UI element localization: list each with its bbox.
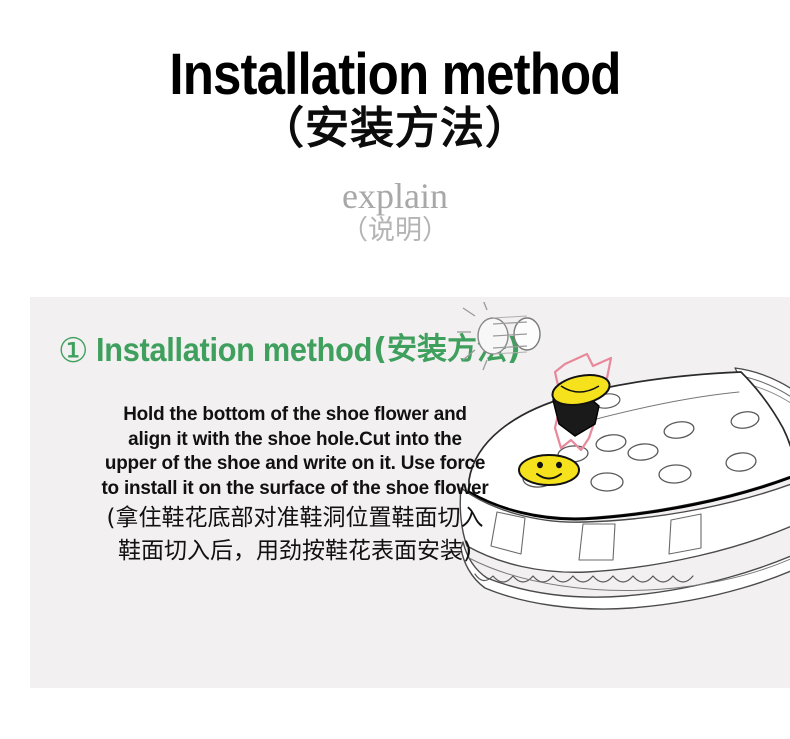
- page-title-en: Installation method: [47, 44, 742, 106]
- page-header: Installation method （安装方法） explain （说明）: [0, 0, 790, 247]
- page-title-cn: （安装方法）: [0, 104, 790, 154]
- step-heading-en: Installation method: [96, 332, 372, 368]
- page-subtitle-cn: （说明）: [0, 215, 790, 247]
- shoe-midsole-vent: [669, 514, 701, 554]
- step-body-en-line-4: to install it on the surface of the shoe…: [38, 476, 552, 501]
- step-body-cn-line-2: 鞋面切入后，用劲按鞋花表面安装): [30, 536, 560, 566]
- page-root: Installation method （安装方法） explain （说明） …: [0, 0, 790, 739]
- shoe-hole: [591, 473, 623, 491]
- step-body-en-line-3: upper of the shoe and write on it. Use f…: [38, 451, 552, 476]
- shoe-tread-scallops: [475, 574, 693, 582]
- press-tool-icon: [457, 302, 540, 370]
- step-panel: ① Installation method (安装方法) Hold the bo…: [30, 297, 790, 688]
- step-body-en-line-1: Hold the bottom of the shoe flower and: [38, 402, 552, 427]
- page-subtitle-en: explain: [0, 176, 790, 216]
- step-body-en-line-2: align it with the shoe hole.Cut into the: [38, 427, 552, 452]
- step-number-icon: ①: [58, 334, 88, 368]
- shoe-midsole-vent: [579, 524, 615, 560]
- step-body: Hold the bottom of the shoe flower and a…: [30, 402, 560, 566]
- step-body-cn-line-1: (拿住鞋花底部对准鞋洞位置鞋面切入: [30, 503, 560, 533]
